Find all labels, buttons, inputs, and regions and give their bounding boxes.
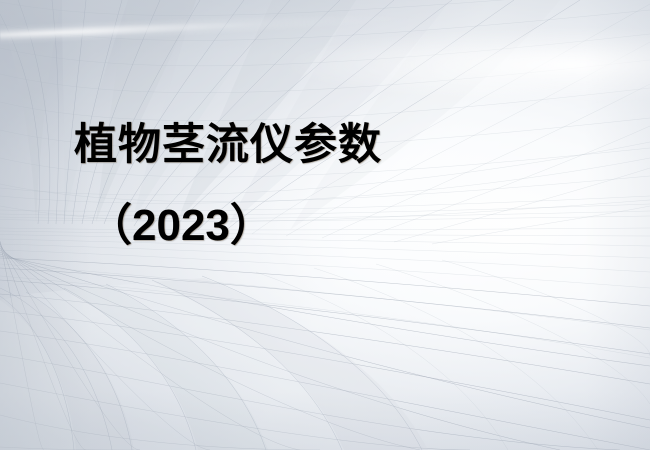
slide-title-main: 植物茎流仪参数 <box>0 124 650 167</box>
slide-title-block: 植物茎流仪参数 （2023） <box>0 124 650 248</box>
mesh-lower-curves <box>0 260 650 450</box>
mesh-lower-bands <box>0 278 428 450</box>
background-glow <box>182 0 650 130</box>
background-light-streak <box>0 0 650 70</box>
mesh-floor-grid <box>0 241 650 450</box>
slide-canvas: 植物茎流仪参数 （2023） <box>0 0 650 450</box>
slide-title-year: （2023） <box>0 204 650 248</box>
